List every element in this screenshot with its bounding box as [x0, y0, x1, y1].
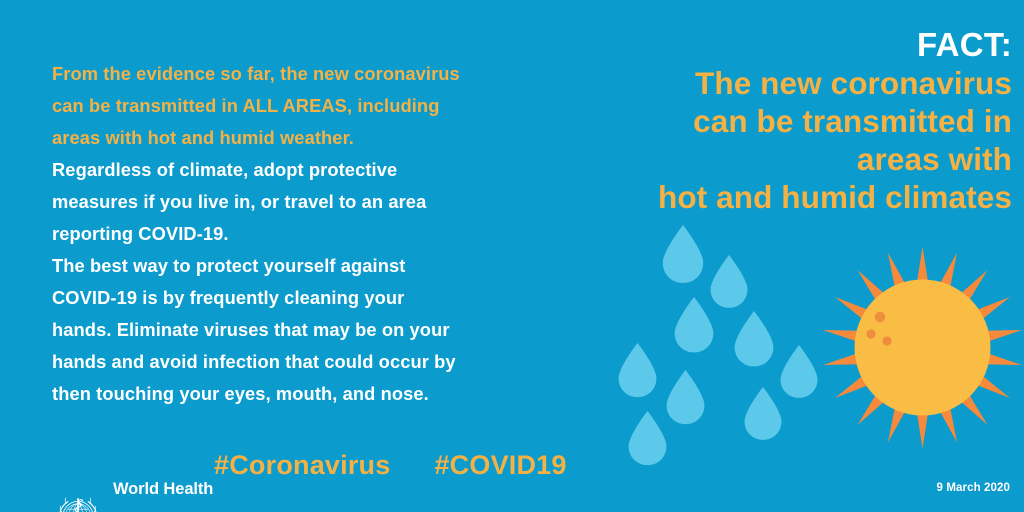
sun-icon [820, 245, 1024, 450]
sun-ray [917, 247, 929, 284]
rod-of-asclepius-icon [76, 498, 83, 512]
raindrop-cluster [600, 215, 850, 475]
body-copy-line: From the evidence so far, the new corona… [52, 58, 552, 90]
body-copy-line: hands and avoid infection that could occ… [52, 346, 552, 378]
body-copy-line: can be transmitted in ALL AREAS, includi… [52, 90, 552, 122]
sun-spot [882, 336, 891, 345]
who-emblem-icon [52, 492, 104, 512]
raindrop-icon [732, 311, 776, 367]
sun-disc [855, 280, 991, 416]
headline-line: can be transmitted in [532, 102, 1012, 140]
hashtag-coronavirus[interactable]: #Coronavirus [214, 450, 390, 481]
who-wordmark-line-1: World Health [113, 480, 213, 499]
sun-spot [866, 329, 875, 338]
headline-block: FACT: The new coronavirus can be transmi… [532, 26, 1012, 216]
date-stamp: 9 March 2020 [937, 482, 1010, 494]
who-logo: World Health Organization [52, 442, 213, 512]
body-copy-line: areas with hot and humid weather. [52, 122, 552, 154]
sun-illustration [820, 245, 1024, 450]
who-wordmark: World Health Organization [113, 442, 213, 512]
sun-ray [917, 411, 929, 448]
raindrop-icon [672, 297, 716, 353]
raindrop-icon [742, 387, 784, 441]
who-fact-card: From the evidence so far, the new corona… [0, 0, 1024, 512]
headline-line: The new coronavirus [532, 64, 1012, 102]
body-copy-line: COVID-19 is by frequently cleaning your [52, 282, 552, 314]
headline-fact-label: FACT: [532, 26, 1012, 64]
hashtag-covid19[interactable]: #COVID19 [434, 450, 566, 481]
raindrop-icon [626, 411, 669, 466]
sun-spot [875, 312, 885, 322]
raindrop-icon [616, 343, 659, 398]
body-copy-line: measures if you live in, or travel to an… [52, 186, 552, 218]
hashtag-row: #Coronavirus #COVID19 [214, 450, 567, 481]
headline-line: hot and humid climates [532, 178, 1012, 216]
raindrop-icon [660, 225, 706, 284]
raindrop-icon [664, 370, 707, 425]
body-copy-line: hands. Eliminate viruses that may be on … [52, 314, 552, 346]
body-copy-line: The best way to protect yourself against [52, 250, 552, 282]
raindrop-icon [778, 345, 820, 399]
body-copy-line: Regardless of climate, adopt protective [52, 154, 552, 186]
body-copy-block: From the evidence so far, the new corona… [52, 58, 552, 410]
headline-line: areas with [532, 140, 1012, 178]
body-copy-line: then touching your eyes, mouth, and nose… [52, 378, 552, 410]
body-copy-line: reporting COVID-19. [52, 218, 552, 250]
